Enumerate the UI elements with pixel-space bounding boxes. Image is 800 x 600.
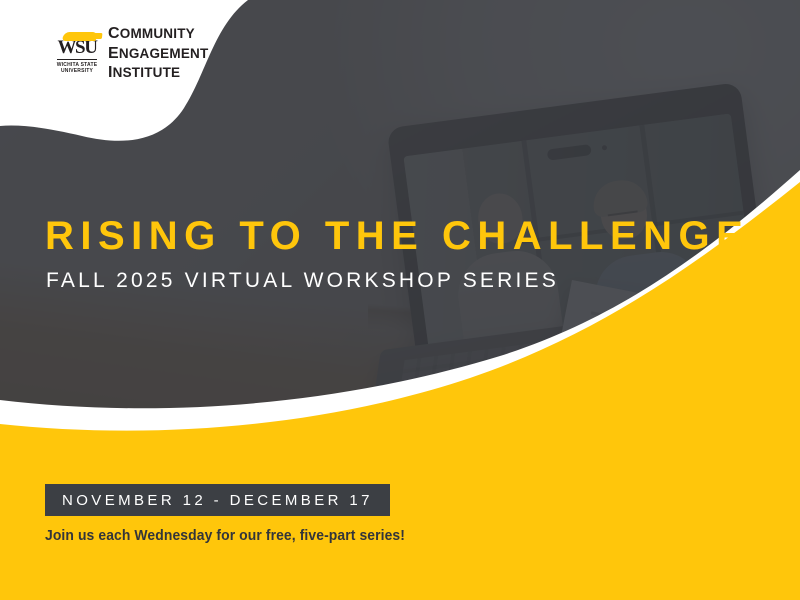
- subheadline: FALL 2025 VIRTUAL WORKSHOP SERIES: [46, 270, 559, 291]
- wheatshocker-icon: [62, 32, 99, 41]
- institute-name: Community Engagement Institute: [108, 24, 208, 83]
- tagline: Join us each Wednesday for our free, fiv…: [45, 529, 405, 544]
- date-range-badge: NOVEMBER 12 - DECEMBER 17: [45, 484, 390, 516]
- date-range-text: NOVEMBER 12 - DECEMBER 17: [62, 493, 373, 508]
- institute-name-line-1: Community: [108, 24, 208, 44]
- university-name: WICHITA STATE UNIVERSITY: [55, 62, 99, 75]
- wsu-community-engagement-institute-logo: WSU WICHITA STATE UNIVERSITY Community E…: [55, 24, 208, 83]
- logo-divider: [57, 59, 97, 61]
- headline: RISING TO THE CHALLENGE: [45, 216, 749, 256]
- institute-name-line-2: Engagement: [108, 44, 208, 64]
- wsu-logo-mark: WSU WICHITA STATE UNIVERSITY: [55, 33, 99, 75]
- wsu-wordmark: WSU: [57, 33, 96, 57]
- promotional-flyer: 13 WSU WICHITA STATE UNIVERSITY Commun: [0, 0, 800, 600]
- institute-name-line-3: Institute: [108, 63, 208, 83]
